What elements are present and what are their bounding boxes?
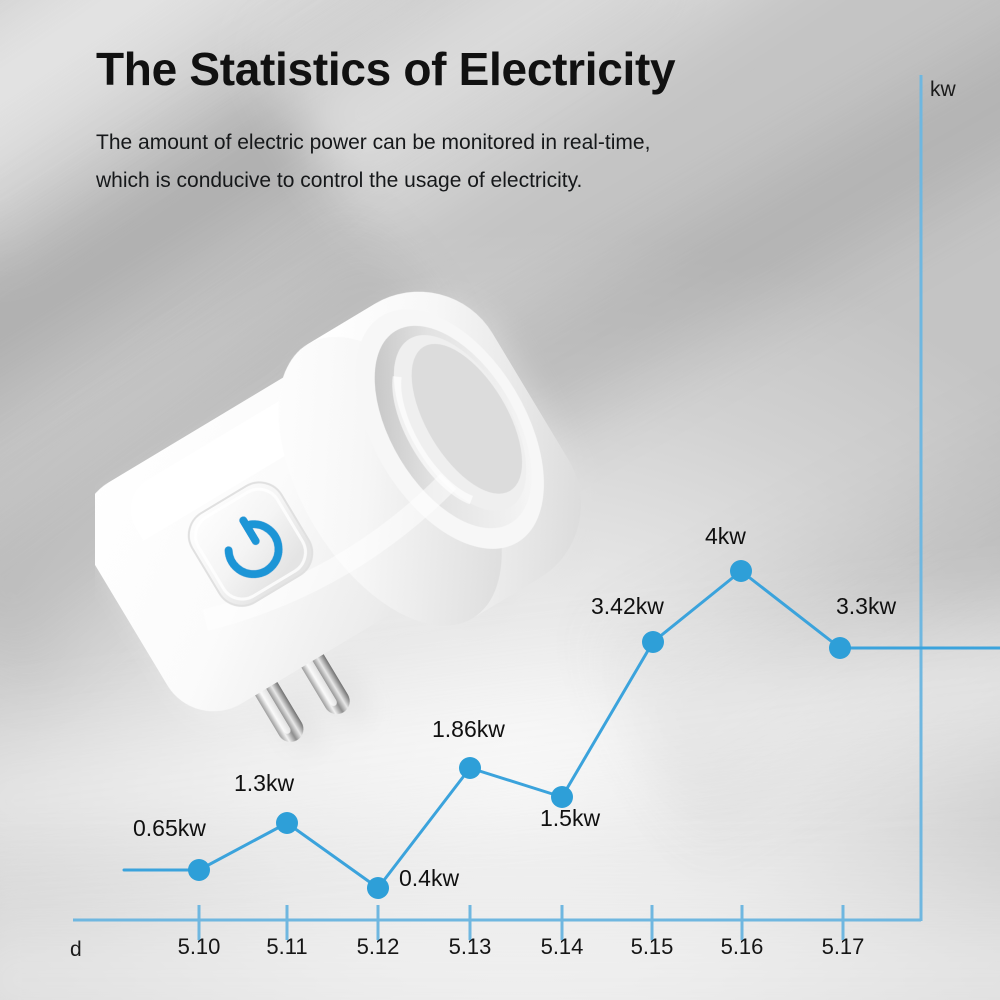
subtitle-line-1: The amount of electric power can be moni…: [96, 124, 650, 162]
subtitle-line-2: which is conducive to control the usage …: [96, 162, 650, 200]
smart-plug-image: [95, 215, 655, 775]
x-tick-label: 5.17: [822, 934, 865, 960]
x-tick-label: 5.12: [357, 934, 400, 960]
page-title: The Statistics of Electricity: [96, 42, 675, 96]
data-point-label: 3.42kw: [591, 593, 664, 620]
data-point-label: 3.3kw: [836, 593, 896, 620]
x-tick-label: 5.13: [449, 934, 492, 960]
x-tick-label: 5.16: [721, 934, 764, 960]
data-point-label: 4kw: [705, 523, 746, 550]
x-axis-label: d: [70, 938, 82, 962]
data-point-label: 1.86kw: [432, 716, 505, 743]
y-axis-label: kw: [930, 78, 956, 102]
x-tick-label: 5.15: [631, 934, 674, 960]
data-point-label: 1.5kw: [540, 805, 600, 832]
data-point-label: 0.4kw: [399, 865, 459, 892]
background-light-streak: [0, 840, 1000, 1000]
x-tick-label: 5.11: [266, 934, 307, 960]
page-subtitle: The amount of electric power can be moni…: [96, 124, 650, 200]
x-tick-label: 5.10: [178, 934, 221, 960]
x-tick-label: 5.14: [541, 934, 584, 960]
poster-canvas: The Statistics of Electricity The amount…: [0, 0, 1000, 1000]
data-point-label: 0.65kw: [133, 815, 206, 842]
data-point-label: 1.3kw: [234, 770, 294, 797]
